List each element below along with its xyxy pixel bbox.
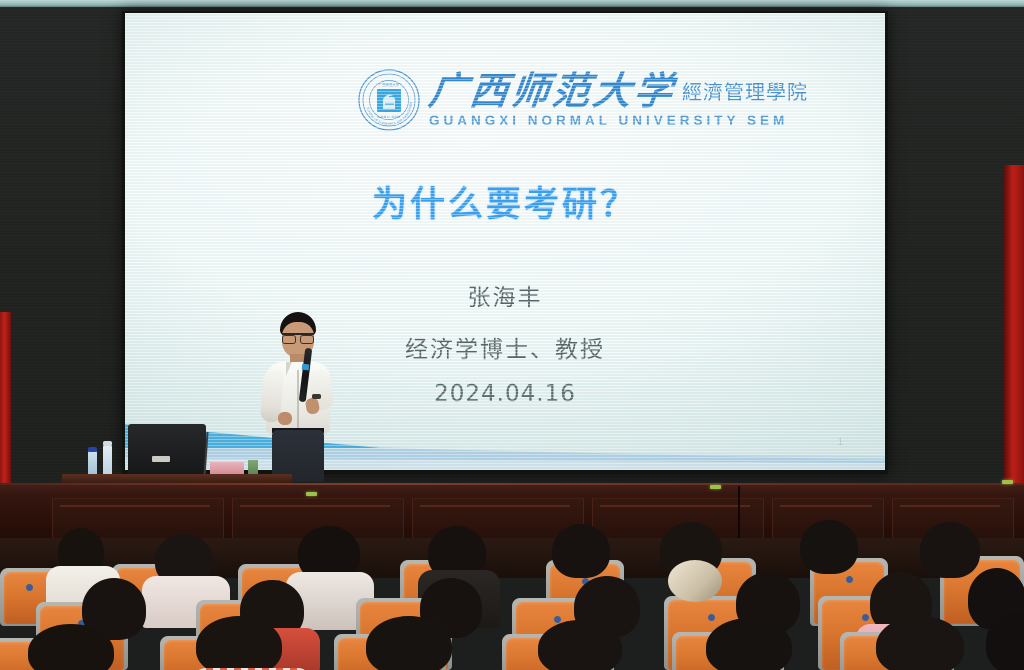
stage-panel-highlight xyxy=(240,505,390,507)
presenter-collar-left xyxy=(286,362,292,376)
logo-university-en: GUANGXI NORMAL UNIVERSITY SEM xyxy=(429,113,808,128)
microphone-band xyxy=(302,364,310,371)
stage-desk-top xyxy=(62,474,292,483)
stage-led-indicator xyxy=(306,492,317,496)
audience-head xyxy=(800,520,858,574)
stage-panel-highlight xyxy=(900,505,1000,507)
laptop-label-sticker xyxy=(152,456,170,462)
projection-screen: 广西师范大学 GXNU SEM SCHOOL OF ECONOMICS AND … xyxy=(125,13,885,470)
stage-edge-highlight xyxy=(0,483,1024,485)
audience-head xyxy=(920,522,980,578)
hair-accessory xyxy=(668,560,722,602)
stage-led-indicator xyxy=(710,485,721,489)
presenter-name: 张海丰 xyxy=(125,278,885,312)
wristwatch-icon xyxy=(312,394,321,399)
glasses-icon xyxy=(282,333,314,342)
presenter-hand-left xyxy=(278,412,292,425)
stage-led-indicator xyxy=(1002,480,1013,484)
logo-college-cn: 經濟管理學院 xyxy=(682,82,808,104)
logo-university-cn: 广西师范大学 xyxy=(427,73,678,111)
audience-head xyxy=(876,616,964,670)
seat-button xyxy=(846,576,853,583)
audience-area xyxy=(0,520,1024,670)
lecture-hall-scene: 广西师范大学 GXNU SEM SCHOOL OF ECONOMICS AND … xyxy=(0,0,1024,670)
audience-head xyxy=(538,620,622,670)
laptop-icon xyxy=(128,424,206,476)
presenter-shirt-placket xyxy=(297,370,299,432)
audience-head xyxy=(366,616,452,670)
presenter-figure xyxy=(252,312,344,482)
stage-panel-highlight xyxy=(780,505,872,507)
audience-head xyxy=(196,616,282,670)
presenter-title: 经济学博士、教授 xyxy=(125,330,885,364)
svg-text:GXNU SEM: GXNU SEM xyxy=(377,114,401,119)
audience-head xyxy=(706,618,792,670)
slide-date: 2024.04.16 xyxy=(125,381,885,407)
stage-curtain-right xyxy=(1004,165,1024,517)
seat-button xyxy=(554,616,561,623)
svg-text:广西师范大学: 广西师范大学 xyxy=(379,82,400,87)
water-bottle-right-cap xyxy=(103,441,112,446)
slide-page-number: 1 xyxy=(837,437,843,448)
seat-button xyxy=(862,614,869,621)
seat-button xyxy=(708,614,715,621)
seat-button xyxy=(26,584,33,591)
water-bottle-left-cap xyxy=(88,447,97,452)
stage-panel-highlight xyxy=(60,505,210,507)
logo-wordmark: 广西师范大学經濟管理學院 GUANGXI NORMAL UNIVERSITY S… xyxy=(429,73,808,128)
stage-panel-highlight xyxy=(420,505,570,507)
audience-head xyxy=(552,524,610,578)
university-emblem-icon: 广西师范大学 GXNU SEM SCHOOL OF ECONOMICS AND … xyxy=(357,68,421,132)
university-logo: 广西师范大学 GXNU SEM SCHOOL OF ECONOMICS AND … xyxy=(357,68,808,132)
stage-panel-highlight xyxy=(600,505,750,507)
slide-title: 为什么要考研？ xyxy=(125,176,885,227)
water-bottle-right xyxy=(103,444,112,478)
